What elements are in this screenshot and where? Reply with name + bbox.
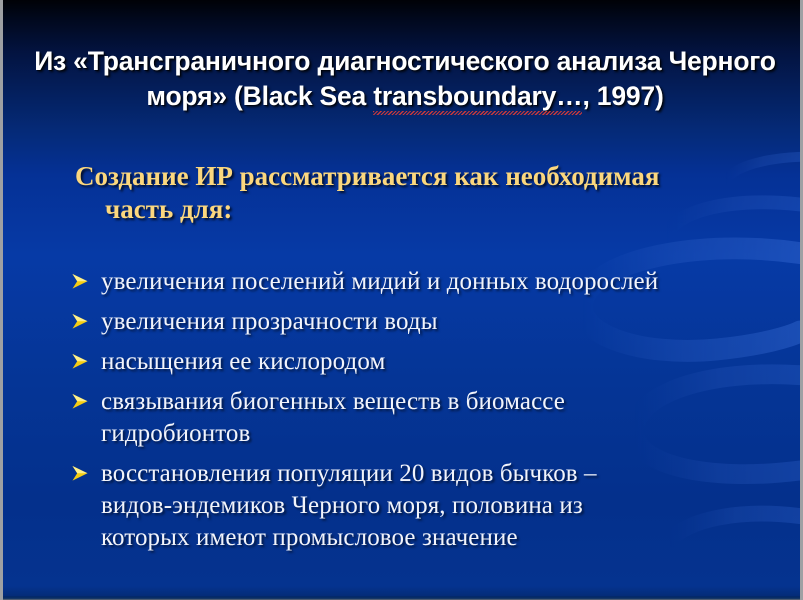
- list-item-text: связывания биогенных веществ в биомассе …: [101, 386, 783, 450]
- arrowhead-bullet-icon: [71, 458, 101, 482]
- slide-title: Из «Трансграничного диагностического ана…: [25, 44, 785, 114]
- bullet-list: увеличения поселений мидий и донных водо…: [71, 266, 783, 562]
- list-item-line-2: видов-эндемиков Черного моря, половина и…: [101, 490, 783, 522]
- list-item: увеличения прозрачности воды: [71, 306, 783, 338]
- arrowhead-bullet-icon: [71, 306, 101, 330]
- list-item: связывания биогенных веществ в биомассе …: [71, 386, 783, 450]
- slide-heading: Создание ИР рассматривается как необходи…: [75, 160, 765, 226]
- list-item-text: восстановления популяции 20 видов бычков…: [101, 458, 783, 554]
- arrowhead-bullet-icon: [71, 266, 101, 290]
- list-item-line-1: восстановления популяции 20 видов бычков…: [101, 460, 597, 487]
- list-item-text: увеличения прозрачности воды: [101, 306, 783, 338]
- list-item-text: увеличения поселений мидий и донных водо…: [101, 266, 783, 298]
- slide-title-line-1: Из «Трансграничного диагностического ана…: [34, 46, 776, 76]
- slide-heading-line-1: Создание ИР рассматривается как необходи…: [75, 161, 659, 191]
- presentation-slide: Из «Трансграничного диагностического ана…: [0, 0, 803, 600]
- misspelled-word-transboundary: transboundary…: [373, 79, 582, 114]
- slide-heading-line-2: часть для:: [75, 193, 765, 226]
- list-item-line-2: гидробионтов: [101, 418, 783, 450]
- list-item-line-1: насыщения ее кислородом: [101, 348, 385, 375]
- list-item-line-3: которых имеют промысловое значение: [101, 522, 783, 554]
- slide-bottom-edge: [3, 596, 800, 600]
- list-item-line-1: увеличения поселений мидий и донных водо…: [101, 268, 658, 295]
- arrowhead-bullet-icon: [71, 386, 101, 410]
- list-item-line-1: связывания биогенных веществ в биомассе: [101, 388, 565, 415]
- slide-title-line-2-prefix: моря» (Black Sea: [146, 81, 373, 111]
- list-item-line-1: увеличения прозрачности воды: [101, 308, 438, 335]
- list-item: увеличения поселений мидий и донных водо…: [71, 266, 783, 298]
- arrowhead-bullet-icon: [71, 346, 101, 370]
- list-item: насыщения ее кислородом: [71, 346, 783, 378]
- list-item: восстановления популяции 20 видов бычков…: [71, 458, 783, 554]
- slide-title-line-2-suffix: , 1997): [582, 81, 663, 111]
- slide-title-line-2: моря» (Black Sea transboundary…, 1997): [25, 79, 785, 114]
- list-item-text: насыщения ее кислородом: [101, 346, 783, 378]
